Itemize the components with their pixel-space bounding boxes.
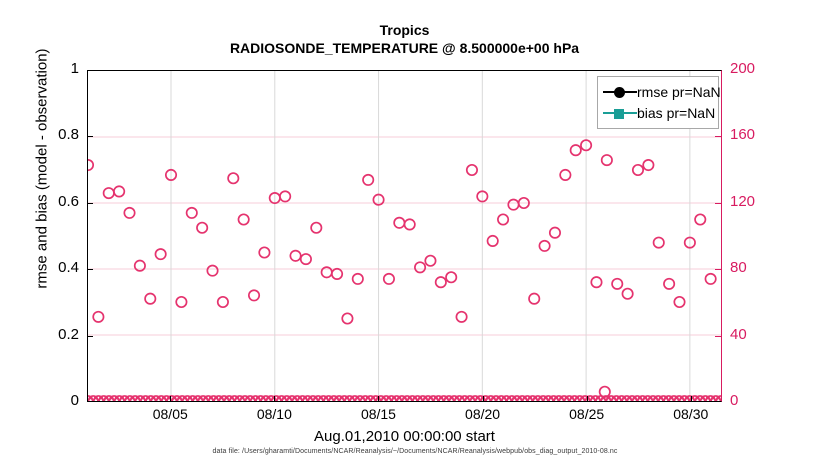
y-tick-label-right: 120: [730, 193, 770, 210]
legend-marker-bias-icon: [603, 105, 637, 121]
x-axis-label: Aug.01,2010 00:00:00 start: [87, 428, 722, 445]
legend-marker-rmse-icon: [603, 84, 637, 100]
y-tick-mark-left: [87, 136, 93, 137]
legend-item-bias[interactable]: bias pr=NaN: [603, 102, 713, 123]
x-tick-mark: [587, 396, 588, 402]
y-tick-mark-right: [715, 203, 721, 204]
x-tick-label: 08/10: [244, 406, 304, 422]
x-tick-mark: [691, 396, 692, 402]
title-region: Tropics: [87, 22, 722, 39]
data-file-note: data file: /Users/gharamti/Documents/NCA…: [0, 448, 830, 455]
y-tick-mark-left: [87, 269, 93, 270]
y-tick-label-right: 80: [730, 259, 770, 276]
x-tick-label: 08/20: [453, 406, 513, 422]
y-tick-mark-left: [87, 336, 93, 337]
y-tick-label-right: 40: [730, 326, 770, 343]
y-tick-mark-left: [87, 203, 93, 204]
x-tick-mark: [274, 396, 275, 402]
y-tick-label-right: 0: [730, 392, 770, 409]
x-tick-label: 08/05: [140, 406, 200, 422]
legend[interactable]: rmse pr=NaN bias pr=NaN: [597, 76, 719, 129]
y-tick-mark-right: [715, 269, 721, 270]
title-variable: RADIOSONDE_TEMPERATURE @ 8.500000e+00 hP…: [87, 39, 722, 57]
chart-title: Tropics RADIOSONDE_TEMPERATURE @ 8.50000…: [87, 22, 722, 57]
legend-label-bias: bias pr=NaN: [637, 105, 715, 121]
x-tick-label: 08/15: [348, 406, 408, 422]
x-tick-label: 08/30: [661, 406, 721, 422]
legend-label-rmse: rmse pr=NaN: [637, 84, 721, 100]
y-tick-mark-right: [715, 336, 721, 337]
x-tick-mark: [378, 396, 379, 402]
x-tick-label: 08/25: [557, 406, 617, 422]
y-tick-label-left: 0: [9, 392, 79, 409]
y-tick-label-right: 200: [730, 60, 770, 77]
figure-canvas: Tropics RADIOSONDE_TEMPERATURE @ 8.50000…: [0, 0, 830, 470]
x-tick-mark: [483, 396, 484, 402]
x-tick-mark: [170, 396, 171, 402]
legend-item-rmse[interactable]: rmse pr=NaN: [603, 81, 713, 102]
y-tick-label-right: 160: [730, 126, 770, 143]
y-tick-mark-right: [715, 136, 721, 137]
y-axis-label-left: rmse and bias (model - observation): [34, 4, 51, 334]
